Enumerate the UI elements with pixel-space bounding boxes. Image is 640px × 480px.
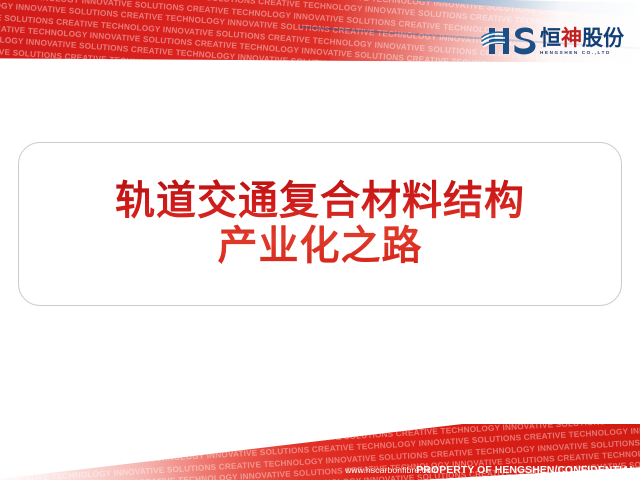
footer-confidential-notice: PROPERTY OF HENGSHEN/CONFIDENTIAL [416, 465, 636, 476]
logo-chars-gufen: 股份 [582, 28, 624, 49]
logo-char-shen: 神 [561, 28, 582, 49]
bottom-decorative-banner: CREATIVE TECHNOLOGY INNOVATIVE SOLUTIONS… [0, 424, 640, 480]
top-blue-stripe [0, 0, 640, 22]
title-content-box: 轨道交通复合材料结构 产业化之路 [18, 142, 622, 306]
slide-title-line-1: 轨道交通复合材料结构 [115, 179, 525, 224]
hengshen-logo: 恒神股份 HENGSHEN CO.,LTD [481, 26, 624, 56]
logo-english-name: HENGSHEN CO.,LTD [540, 51, 611, 56]
logo-chinese-name: 恒神股份 [540, 28, 624, 49]
slide-title: 轨道交通复合材料结构 产业化之路 [115, 179, 525, 269]
logo-wordmark: 恒神股份 HENGSHEN CO.,LTD [540, 28, 624, 56]
logo-char-heng: 恒 [540, 28, 561, 49]
slide-title-line-2: 产业化之路 [115, 224, 525, 269]
presentation-slide: CREATIVE TECHNOLOGY INNOVATIVE SOLUTIONS… [0, 0, 640, 480]
hs-monogram-icon [481, 26, 537, 56]
